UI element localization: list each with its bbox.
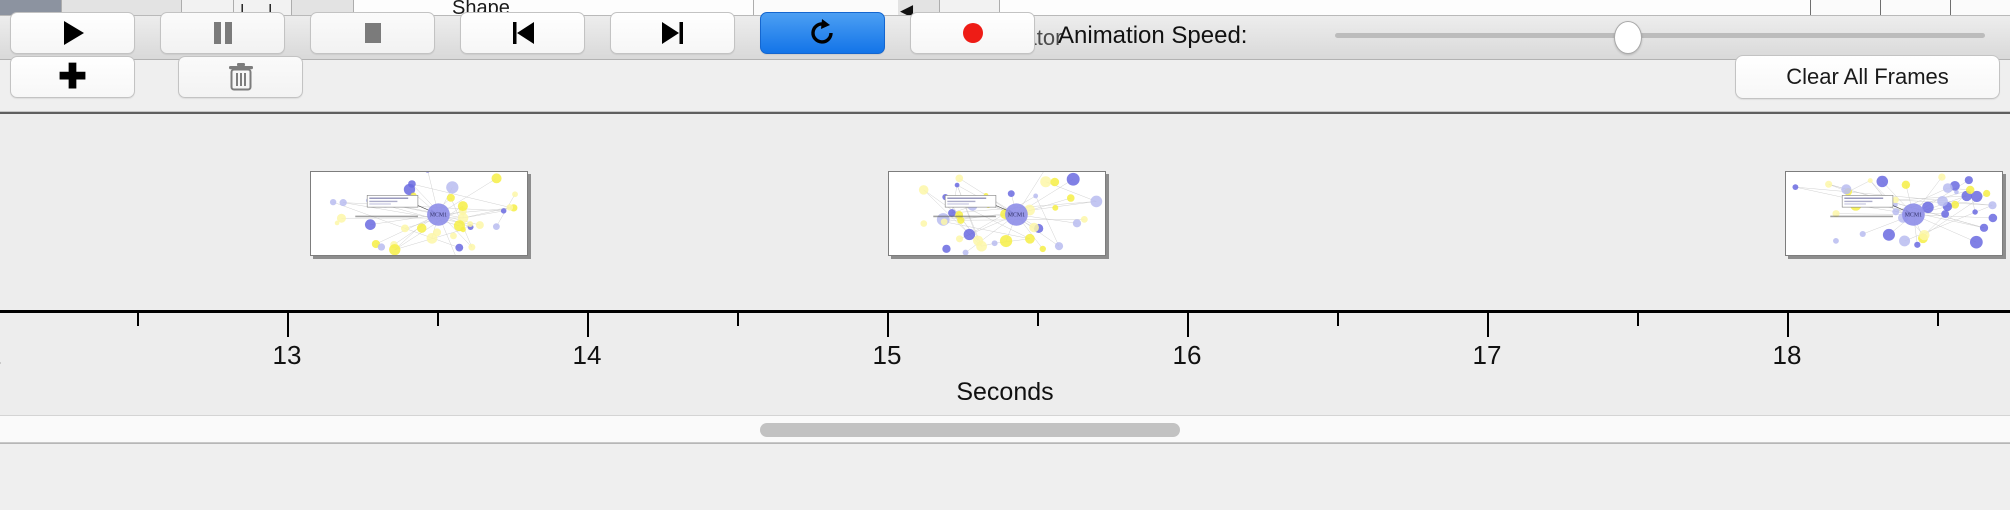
network-thumbnail-canvas: MCM1	[889, 172, 1105, 255]
ruler-tick-major	[1487, 313, 1489, 337]
skip-to-start-button[interactable]	[460, 12, 585, 54]
ruler-tick-label: 18	[1773, 340, 1802, 371]
animation-speed-slider-thumb[interactable]	[1614, 21, 1642, 54]
playback-control-bar	[0, 443, 2010, 510]
play-button[interactable]	[10, 12, 135, 54]
timeline-ruler[interactable]: 12131415161718 Seconds	[0, 310, 2010, 415]
frame-thumbnail-2[interactable]: MCM1	[888, 171, 1106, 256]
ruler-tick-minor	[137, 313, 139, 326]
ruler-tick-minor	[437, 313, 439, 326]
ruler-tick-label: 14	[573, 340, 602, 371]
ruler-tick-minor	[1337, 313, 1339, 326]
skip-back-icon	[510, 19, 536, 47]
cyanimator-window: | | ◀ Shape CyAnimator ✚ Clear All Frame…	[0, 0, 2010, 510]
svg-text:MCM1: MCM1	[1008, 213, 1025, 219]
ruler-tick-major	[287, 313, 289, 337]
network-thumbnail-canvas: MCM1	[1786, 172, 2002, 255]
ruler-tick-label: 13	[273, 340, 302, 371]
ruler-tick-minor	[737, 313, 739, 326]
skip-to-end-button[interactable]	[610, 12, 735, 54]
add-frame-button[interactable]: ✚	[10, 56, 135, 98]
ruler-tick-major	[887, 313, 889, 337]
ruler-tick-label: 15	[873, 340, 902, 371]
scrollbar-thumb[interactable]	[760, 423, 1180, 437]
record-icon	[960, 20, 986, 46]
play-icon	[60, 19, 86, 47]
pause-button[interactable]	[160, 12, 285, 54]
clear-all-frames-button[interactable]: Clear All Frames	[1735, 55, 2000, 99]
svg-text:MCM1: MCM1	[430, 213, 447, 219]
pause-icon	[211, 19, 235, 47]
record-button[interactable]	[910, 12, 1035, 54]
delete-frame-button[interactable]	[178, 56, 303, 98]
ruler-tick-minor	[1937, 313, 1939, 326]
ruler-tick-major	[1187, 313, 1189, 337]
ruler-tick-label: 16	[1173, 340, 1202, 371]
svg-text:MCM1: MCM1	[1905, 213, 1922, 219]
horizontal-scrollbar[interactable]	[0, 415, 2010, 443]
stop-icon	[361, 19, 385, 47]
trash-icon	[228, 62, 254, 92]
frame-thumbnail-1[interactable]: MCM1	[310, 171, 528, 256]
ruler-tick-label: 17	[1473, 340, 1502, 371]
ruler-baseline	[0, 310, 2010, 313]
skip-forward-icon	[660, 19, 686, 47]
frames-track[interactable]: MCM1MCM1MCM1	[0, 114, 2010, 310]
timeline-panel: MCM1MCM1MCM1 12131415161718 Seconds	[0, 112, 2010, 415]
ruler-tick-major	[1787, 313, 1789, 337]
stop-button[interactable]	[310, 12, 435, 54]
network-thumbnail-canvas: MCM1	[311, 172, 527, 255]
ruler-tick-minor	[1037, 313, 1039, 326]
plus-icon: ✚	[58, 60, 87, 94]
ruler-tick-minor	[1637, 313, 1639, 326]
frame-thumbnail-3[interactable]: MCM1	[1785, 171, 2003, 256]
loop-icon	[809, 18, 837, 48]
axis-label-seconds: Seconds	[0, 378, 2010, 407]
loop-button[interactable]	[760, 12, 885, 54]
ruler-tick-label: 12	[0, 340, 1, 371]
ruler-tick-major	[587, 313, 589, 337]
animation-speed-label: Animation Speed:	[1058, 22, 1247, 50]
animation-speed-slider-track[interactable]	[1335, 33, 1985, 38]
